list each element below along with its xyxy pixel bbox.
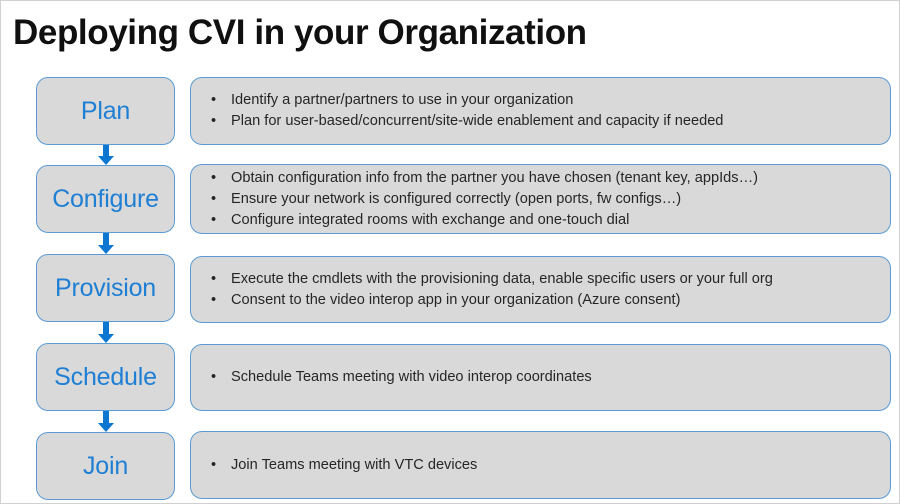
flow-arrow-down-icon xyxy=(98,145,114,165)
bullet-item: •Consent to the video interop app in you… xyxy=(201,290,878,311)
arrow-head xyxy=(98,245,114,254)
bullet-item: •Join Teams meeting with VTC devices xyxy=(201,455,878,476)
bullet-text: Ensure your network is configured correc… xyxy=(231,191,681,207)
stage-label: Schedule xyxy=(54,363,157,392)
bullet-text: Consent to the video interop app in your… xyxy=(231,292,680,308)
bullet-dot-icon: • xyxy=(211,168,216,189)
bullet-item: •Execute the cmdlets with the provisioni… xyxy=(201,269,878,290)
stage-box-provision[interactable]: Provision xyxy=(36,254,175,322)
bullet-item: •Ensure your network is configured corre… xyxy=(201,189,878,210)
bullet-text: Join Teams meeting with VTC devices xyxy=(231,457,477,473)
stage-box-join[interactable]: Join xyxy=(36,432,175,500)
stage-label: Join xyxy=(83,452,128,481)
bullet-dot-icon: • xyxy=(211,455,216,476)
stage-label: Configure xyxy=(52,185,159,214)
bullet-dot-icon: • xyxy=(211,111,216,132)
bullet-item: •Schedule Teams meeting with video inter… xyxy=(201,367,878,388)
stage-box-schedule[interactable]: Schedule xyxy=(36,343,175,411)
flow-arrow-down-icon xyxy=(98,411,114,432)
stage-box-plan[interactable]: Plan xyxy=(36,77,175,145)
bullet-text: Plan for user-based/concurrent/site-wide… xyxy=(231,113,723,129)
bullet-dot-icon: • xyxy=(211,269,216,290)
bullet-dot-icon: • xyxy=(211,189,216,210)
bullet-text: Configure integrated rooms with exchange… xyxy=(231,212,629,228)
arrow-head xyxy=(98,156,114,165)
bullet-dot-icon: • xyxy=(211,90,216,111)
detail-box-configure: •Obtain configuration info from the part… xyxy=(190,164,891,234)
bullet-item: •Obtain configuration info from the part… xyxy=(201,168,878,189)
bullet-text: Execute the cmdlets with the provisionin… xyxy=(231,271,773,287)
flow-arrow-down-icon xyxy=(98,322,114,343)
arrow-head xyxy=(98,423,114,432)
detail-box-schedule: •Schedule Teams meeting with video inter… xyxy=(190,344,891,411)
bullet-text: Obtain configuration info from the partn… xyxy=(231,170,758,186)
stage-box-configure[interactable]: Configure xyxy=(36,165,175,233)
detail-box-plan: •Identify a partner/partners to use in y… xyxy=(190,77,891,145)
slide-canvas: Deploying CVI in your Organization Plan•… xyxy=(0,0,900,504)
detail-box-join: •Join Teams meeting with VTC devices xyxy=(190,431,891,499)
bullet-dot-icon: • xyxy=(211,367,216,388)
detail-box-provision: •Execute the cmdlets with the provisioni… xyxy=(190,256,891,323)
stage-label: Plan xyxy=(81,97,130,126)
page-title: Deploying CVI in your Organization xyxy=(13,9,773,57)
bullet-item: •Configure integrated rooms with exchang… xyxy=(201,210,878,231)
bullet-item: •Plan for user-based/concurrent/site-wid… xyxy=(201,111,878,132)
flow-arrow-down-icon xyxy=(98,233,114,254)
process-flow-diagram: Plan•Identify a partner/partners to use … xyxy=(1,63,899,499)
bullet-dot-icon: • xyxy=(211,210,216,231)
stage-label: Provision xyxy=(55,274,156,303)
bullet-item: •Identify a partner/partners to use in y… xyxy=(201,90,878,111)
bullet-dot-icon: • xyxy=(211,290,216,311)
bullet-text: Identify a partner/partners to use in yo… xyxy=(231,92,573,108)
arrow-head xyxy=(98,334,114,343)
bullet-text: Schedule Teams meeting with video intero… xyxy=(231,369,592,385)
